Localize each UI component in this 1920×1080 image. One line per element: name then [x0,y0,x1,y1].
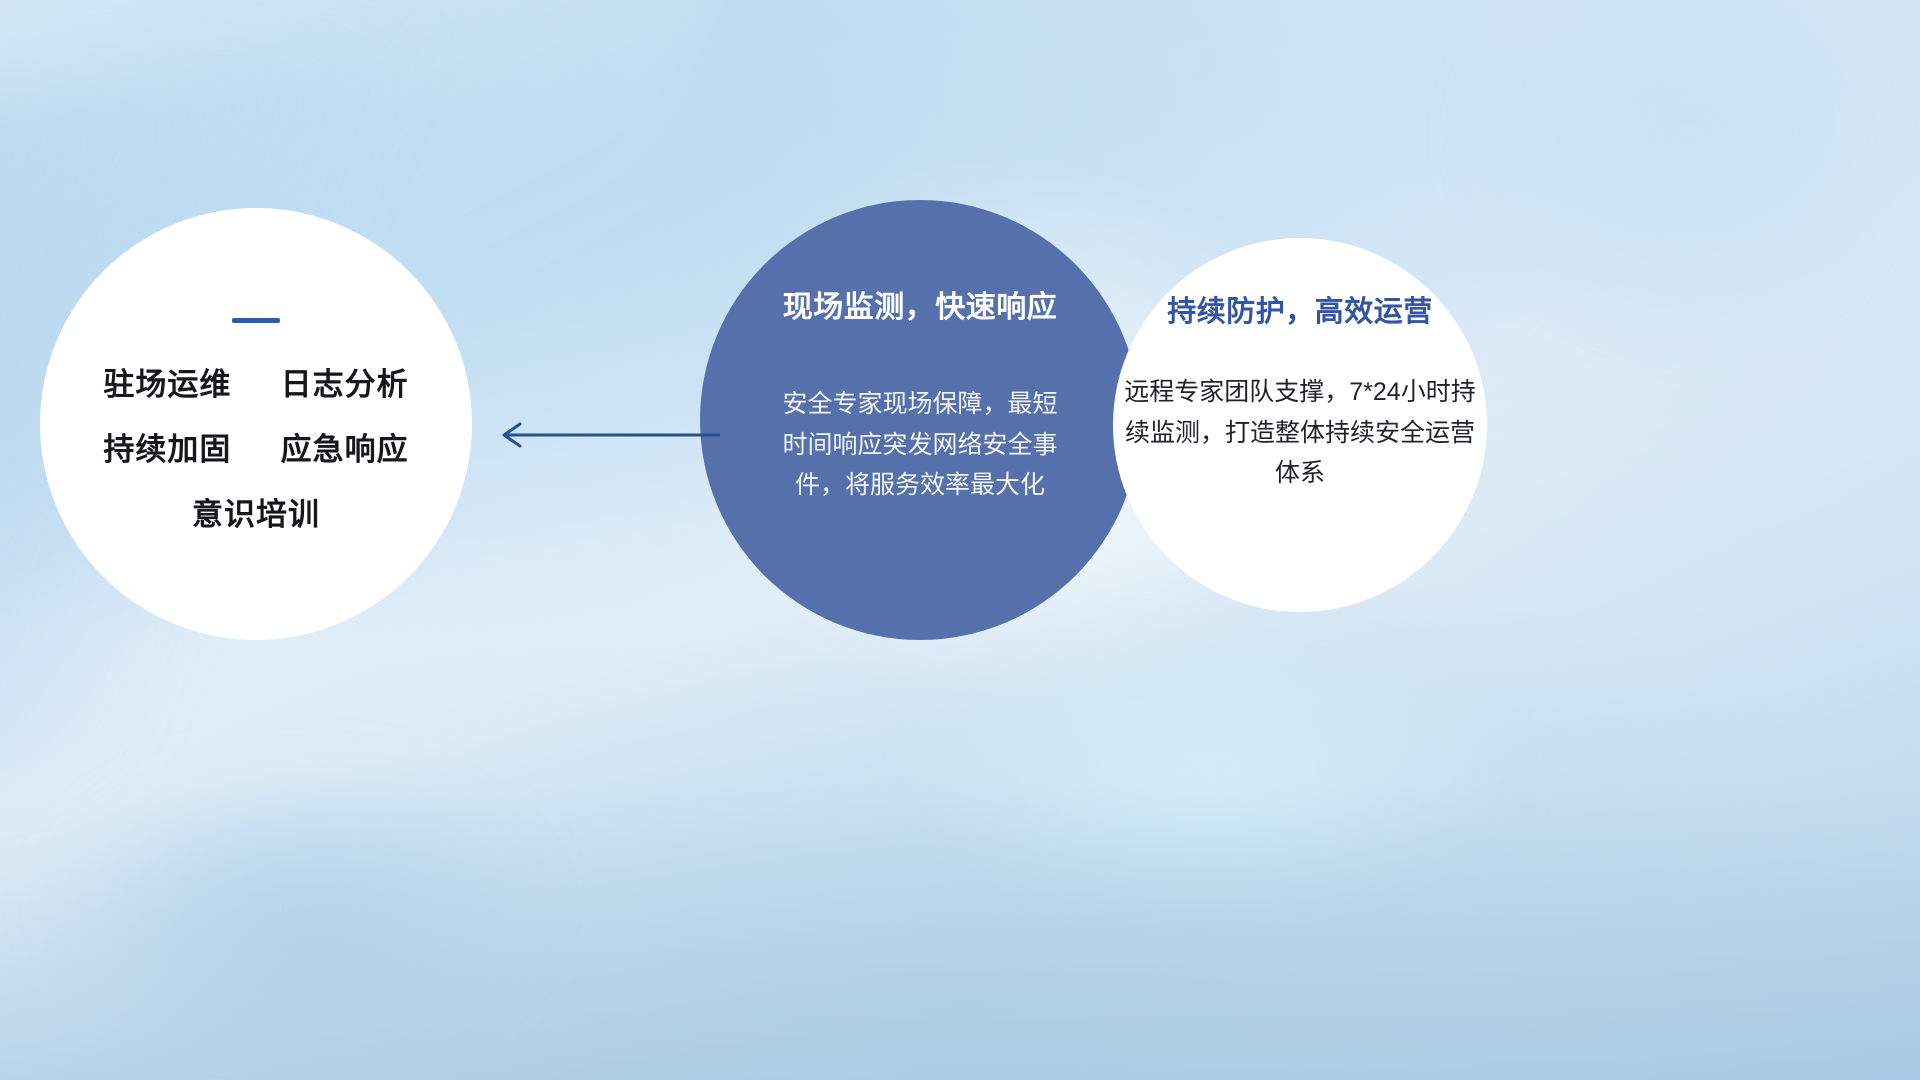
list-item: 持续加固 应急响应 [103,434,408,465]
list-item: 意识培训 [103,499,408,530]
card-title: 现场监测，快速响应 [783,282,1058,326]
service-capabilities-card: 驻场运维 日志分析 持续加固 应急响应 意识培训 [40,208,472,640]
card-body-text: 远程专家团队支撑，7*24小时持续监测，打造整体持续安全运营体系 [1124,372,1476,494]
card-body-text: 安全专家现场保障，最短时间响应突发网络安全事件，将服务效率最大化 [775,384,1065,506]
capability-list: 驻场运维 日志分析 持续加固 应急响应 意识培训 [103,369,408,530]
continuous-protection-card: 持续防护，高效运营 远程专家团队支撑，7*24小时持续监测，打造整体持续安全运营… [1113,238,1487,612]
list-item: 驻场运维 日志分析 [103,369,408,400]
capability-label: 日志分析 [281,367,409,402]
left-arrow-icon [480,418,720,452]
capability-label: 意识培训 [192,497,320,532]
capability-label: 应急响应 [281,432,409,467]
card-title: 持续防护，高效运营 [1167,288,1433,330]
divider-dash-icon [232,318,280,323]
onsite-monitoring-card: 现场监测，快速响应 安全专家现场保障，最短时间响应突发网络安全事件，将服务效率最… [700,200,1140,640]
background-vignette-bottom [0,780,1920,1080]
capability-label: 驻场运维 [103,367,231,402]
capability-label: 持续加固 [103,432,231,467]
